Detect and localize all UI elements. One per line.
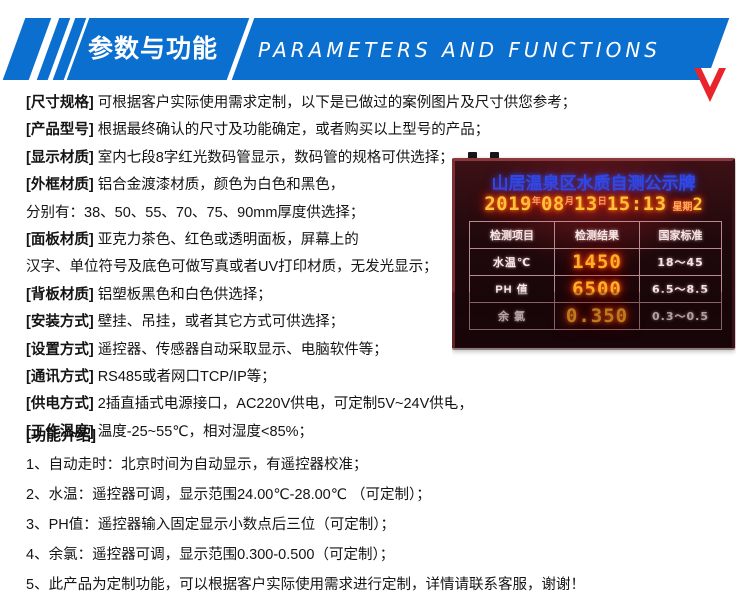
spec-text: 壁挂、吊挂，或者其它方式可供选择； — [98, 314, 345, 330]
spec-line: [尺寸规格] 可根据客户实际使用需求定制，以下是已做过的案例图片及尺寸供您参考； — [26, 90, 726, 117]
spec-label: [供电方式] — [26, 396, 94, 412]
row-standard-value: 18～45 — [640, 249, 722, 276]
section-header-banner: 参数与功能 PARAMETERS AND FUNCTIONS — [0, 18, 750, 80]
reflection-surface — [452, 292, 729, 348]
table-header-result: 检测结果 — [555, 222, 640, 249]
spec-text: 根据最终确认的尺寸及功能确定，或者购买以上型号的产品； — [98, 122, 490, 138]
function-item: 4、余氯：遥控器可调，显示范围0.300-0.500（可定制）； — [26, 540, 736, 570]
spec-text: 亚克力茶色、红色或透明面板，屏幕上的 — [98, 232, 359, 248]
table-header-row: 检测项目 检测结果 国家标准 — [470, 222, 722, 249]
led-board-photo: 山居温泉区水质自测公示牌 2019年08月13日15:13星期2 检测项目 检测… — [452, 152, 736, 404]
functions-list: 1、自动走时：北京时间为自动显示，有遥控器校准； 2、水温：遥控器可调，显示范围… — [26, 450, 736, 600]
spec-text: 可根据客户实际使用需求定制，以下是已做过的案例图片及尺寸供您参考； — [98, 95, 577, 111]
led-hour: 15 — [607, 193, 631, 215]
spec-text: 汉字、单位符号及底色可做写真或者UV打印材质，无发光显示； — [26, 259, 438, 275]
led-year: 2019 — [484, 193, 532, 215]
table-row: 水温℃ 1450 18～45 — [470, 249, 722, 276]
spec-text: 铝合金渡漆材质，颜色为白色和黑色， — [98, 177, 345, 193]
row-item-name: 水温℃ — [470, 249, 555, 276]
led-month-unit: 月 — [565, 196, 574, 206]
led-board-reflection — [452, 292, 729, 348]
chevron-down-icon — [694, 68, 726, 102]
spec-text: 遥控器、传感器自动采取显示、电脑软件等； — [98, 342, 388, 358]
spec-text: RS485或者网口TCP/IP等； — [98, 369, 276, 385]
spec-text: 铝塑板黑色和白色供选择； — [98, 287, 272, 303]
led-minute: 13 — [643, 193, 667, 215]
spec-text: 温度-25~55℃，相对湿度<85%； — [98, 424, 313, 440]
spec-label: [安装方式] — [26, 314, 94, 330]
spec-line: [工作温度] 温度-25~55℃，相对湿度<85%； — [26, 419, 726, 446]
banner-title-chinese: 参数与功能 — [88, 35, 238, 63]
spec-label: [面板材质] — [26, 232, 94, 248]
function-item: 3、PH值：遥控器输入固定显示小数点后三位（可定制）； — [26, 510, 736, 540]
led-weekday-value: 2 — [693, 195, 703, 215]
led-board-datetime: 2019年08月13日15:13星期2 — [455, 193, 732, 215]
spec-label: [尺寸规格] — [26, 95, 94, 111]
spec-text: 室内七段8字红光数码管显示，数码管的规格可供选择； — [98, 150, 454, 166]
banner-title-english: PARAMETERS AND FUNCTIONS — [258, 39, 661, 61]
spec-text: 分别有：38、50、55、70、75、90mm厚度供选择； — [26, 205, 364, 221]
function-item: 1、自动走时：北京时间为自动显示，有遥控器校准； — [26, 450, 736, 480]
spec-text: 2插直插式电源接口，AC220V供电，可定制5V~24V供电； — [98, 396, 473, 412]
spec-label: [设置方式] — [26, 342, 94, 358]
function-item: 2、水温：遥控器可调，显示范围24.00℃-28.00℃ （可定制）； — [26, 480, 736, 510]
spec-label: [显示材质] — [26, 150, 94, 166]
spec-line: [产品型号] 根据最终确认的尺寸及功能确定，或者购买以上型号的产品； — [26, 117, 726, 144]
led-time-separator: : — [631, 193, 643, 215]
row-result-value: 1450 — [555, 249, 640, 276]
function-item: 5、此产品为定制功能，可以根据客户实际使用需求进行定制，详情请联系客服，谢谢！ — [26, 570, 736, 600]
reflection-fade-overlay — [452, 348, 736, 404]
led-weekday-label: 星期 — [673, 202, 693, 213]
led-day-unit: 日 — [598, 196, 607, 206]
led-month: 08 — [541, 193, 565, 215]
spec-label: [通讯方式] — [26, 369, 94, 385]
table-header-standard: 国家标准 — [640, 222, 722, 249]
functions-heading: [功能介绍] — [26, 424, 96, 445]
spec-label: [背板材质] — [26, 287, 94, 303]
led-year-unit: 年 — [532, 196, 541, 206]
spec-label: [产品型号] — [26, 122, 94, 138]
spec-label: [外框材质] — [26, 177, 94, 193]
led-board-title: 山居温泉区水质自测公示牌 — [455, 169, 732, 194]
table-header-item: 检测项目 — [470, 222, 555, 249]
led-day: 13 — [574, 193, 598, 215]
